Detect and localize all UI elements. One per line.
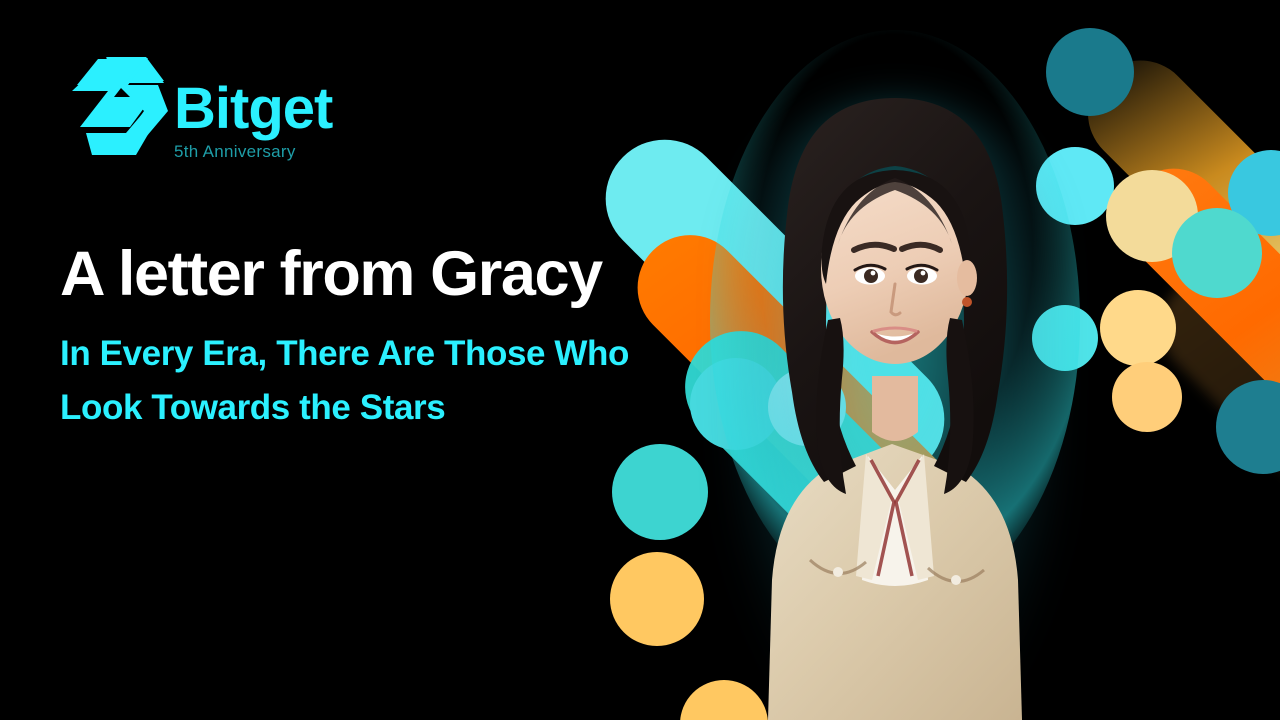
subtitle-line-2: Look Towards the Stars — [60, 381, 629, 435]
portrait-illustration — [660, 20, 1130, 720]
subtitle-line-1: In Every Era, There Are Those Who — [60, 327, 629, 381]
bitget-logo-lockup[interactable]: Bitget 5th Anniversary — [60, 55, 332, 162]
bitget-wordmark: Bitget — [174, 81, 332, 136]
bitget-s-chevron-logo-icon — [60, 55, 168, 161]
page-title: A letter from Gracy — [60, 243, 602, 306]
page-subtitle: In Every Era, There Are Those Who Look T… — [60, 327, 629, 434]
bitget-anniversary-banner: Bitget 5th Anniversary A letter from Gra… — [0, 0, 1280, 720]
portrait-figure — [660, 20, 1130, 720]
anniversary-tagline: 5th Anniversary — [174, 142, 332, 162]
bitget-wordmark-column: Bitget 5th Anniversary — [174, 55, 332, 162]
dot-turquoise — [1172, 208, 1262, 298]
